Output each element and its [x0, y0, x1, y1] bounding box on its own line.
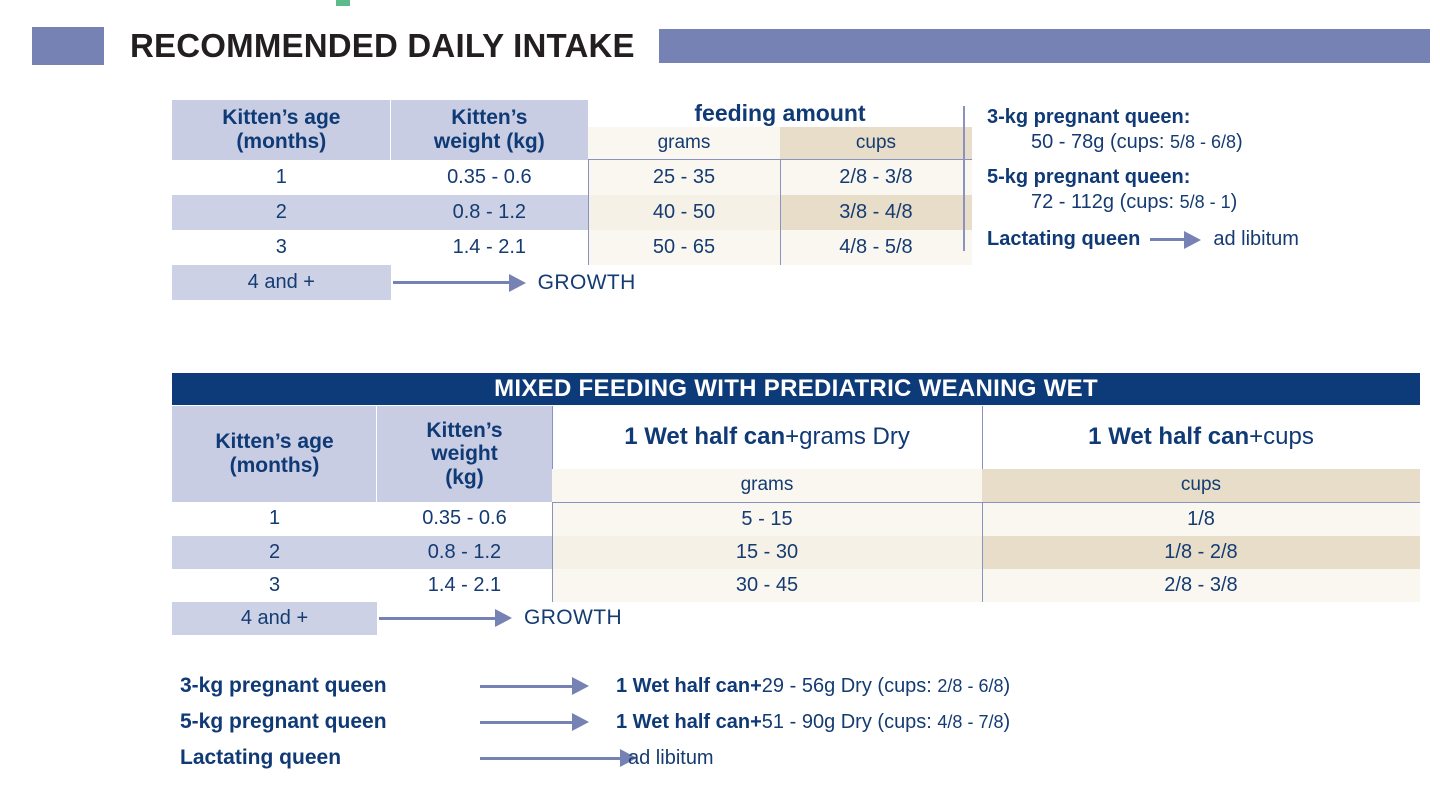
table2-header-cups: cups	[982, 469, 1420, 502]
table1-cell-age: 1	[172, 160, 391, 196]
table2-header-age: Kitten’s age (months)	[172, 406, 377, 502]
table-row: 3 1.4 - 2.1 50 - 65 4/8 - 5/8	[172, 230, 972, 265]
table1-cell-weight: 0.8 - 1.2	[391, 195, 588, 230]
table-row: 2 0.8 - 1.2 40 - 50 3/8 - 4/8	[172, 195, 972, 230]
arrow-head-icon	[572, 713, 589, 731]
table-row: 3 1.4 - 2.1 30 - 45 2/8 - 3/8	[172, 569, 1420, 602]
note-value: 1 Wet half can+51 - 90g Dry (cups: 4/8 -…	[616, 711, 1010, 734]
table2-cell-grams: 5 - 15	[552, 502, 982, 536]
queen3-value-end: )	[1236, 131, 1243, 153]
arrow-right-icon	[379, 617, 495, 620]
arrow-right-icon	[480, 721, 572, 724]
table2-growth-cell: GROWTH	[377, 602, 1420, 635]
table2-cell-grams: 30 - 45	[552, 569, 982, 602]
table2-header-weight: Kitten’s weight (kg)	[377, 406, 552, 502]
recommended-daily-intake-table: Kitten’s age (months) Kitten’s weight (k…	[172, 100, 972, 300]
growth-arrow-group: GROWTH	[377, 606, 1420, 630]
table2-growth-label: GROWTH	[524, 606, 622, 630]
arrow-head-icon	[495, 609, 512, 627]
table2-header-weight-line3: (kg)	[377, 466, 552, 490]
arrow-right-icon	[393, 281, 509, 284]
note-label: 3-kg pregnant queen	[180, 674, 480, 698]
table1-cell-grams: 40 - 50	[588, 195, 780, 230]
table1-header-age: Kitten’s age (months)	[172, 100, 391, 160]
arrow-head-icon	[572, 677, 589, 695]
table2-head: Kitten’s age (months) Kitten’s weight (k…	[172, 406, 1420, 502]
table2-cell-cups: 1/8	[982, 502, 1420, 536]
arrow-head-icon	[1184, 231, 1201, 249]
note-arrow-group	[480, 749, 608, 767]
table1-growth-row: 4 and + GROWTH	[172, 265, 972, 300]
table2-cell-cups: 2/8 - 3/8	[982, 569, 1420, 602]
table2-body: 1 0.35 - 0.6 5 - 15 1/8 2 0.8 - 1.2 15 -…	[172, 502, 1420, 635]
table2-cell-grams: 15 - 30	[552, 536, 982, 569]
table1-header-weight: Kitten’s weight (kg)	[391, 100, 588, 160]
table2-header-weight-line2: weight	[377, 442, 552, 466]
table2-cell-age: 2	[172, 536, 377, 569]
lactating-queen-row: Lactating queen ad libitum	[987, 228, 1433, 251]
queen3-title: 3-kg pregnant queen:	[987, 106, 1433, 129]
arrow-right-icon	[480, 757, 620, 760]
queen5-title: 5-kg pregnant queen:	[987, 166, 1433, 189]
queen3-value-fraction: 5/8 - 6/8	[1170, 132, 1236, 152]
table1-header-weight-line2: weight (kg)	[391, 130, 588, 154]
table1-cell-weight: 1.4 - 2.1	[391, 230, 588, 265]
note-row: 5-kg pregnant queen 1 Wet half can+51 - …	[180, 704, 1280, 740]
note-row: Lactating queen ad libitum	[180, 740, 1280, 776]
table1-header-row-1: Kitten’s age (months) Kitten’s weight (k…	[172, 100, 972, 127]
note-row: 3-kg pregnant queen 1 Wet half can+29 - …	[180, 668, 1280, 704]
growth-arrow-group: GROWTH	[391, 271, 972, 295]
note-arrow-group	[480, 677, 608, 695]
green-marker-decoration	[336, 0, 350, 6]
table-row: 1 0.35 - 0.6 5 - 15 1/8	[172, 502, 1420, 536]
table1-cell-cups: 3/8 - 4/8	[780, 195, 972, 230]
table2-header-age-line2: (months)	[172, 454, 377, 478]
table2-header-wet-cups-bold: 1 Wet half can	[1088, 423, 1249, 450]
title-accent-block-left	[32, 27, 104, 65]
table1-header-grams: grams	[588, 127, 780, 160]
table1-cell-cups: 4/8 - 5/8	[780, 230, 972, 265]
lactating-queen-label: Lactating queen	[987, 228, 1140, 251]
table1-growth-cell: GROWTH	[391, 265, 972, 300]
note-value: 1 Wet half can+29 - 56g Dry (cups: 2/8 -…	[616, 675, 1010, 698]
note-label: 5-kg pregnant queen	[180, 710, 480, 734]
table2-header-wet-dry-bold: 1 Wet half can	[624, 423, 785, 450]
table1-growth-label: GROWTH	[538, 271, 636, 295]
table2-cell-age: 3	[172, 569, 377, 602]
table1-cell-weight: 0.35 - 0.6	[391, 160, 588, 196]
queen3-value-main: 50 - 78g (cups:	[1031, 131, 1170, 153]
table2-header-wet-cups: 1 Wet half can+cups	[982, 406, 1420, 469]
table1-header-age-line2: (months)	[172, 130, 391, 154]
note-value-main: ad libitum	[628, 747, 714, 769]
table2-growth-row: 4 and + GROWTH	[172, 602, 1420, 635]
note-value-main: 51 - 90g Dry (cups:	[762, 711, 938, 733]
bottom-notes: 3-kg pregnant queen 1 Wet half can+29 - …	[180, 668, 1280, 776]
table1-header-age-line1: Kitten’s age	[172, 106, 391, 130]
table2-header-wet-dry: 1 Wet half can+grams Dry	[552, 406, 982, 469]
table1-cell-age: 3	[172, 230, 391, 265]
note-value-bold: 1 Wet half can+	[616, 675, 762, 697]
queen5-value-fraction: 5/8 - 1	[1180, 192, 1231, 212]
pregnant-queen-panel: 3-kg pregnant queen: 50 - 78g (cups: 5/8…	[963, 106, 1433, 251]
table2-header-row-1: Kitten’s age (months) Kitten’s weight (k…	[172, 406, 1420, 469]
table2-cell-weight: 1.4 - 2.1	[377, 569, 552, 602]
arrow-right-icon	[1150, 238, 1184, 241]
table1-growth-age: 4 and +	[172, 265, 391, 300]
page-title-bar: RECOMMENDED DAILY INTAKE	[0, 26, 1440, 66]
note-value-fraction: 2/8 - 6/8	[937, 676, 1003, 696]
note-label: Lactating queen	[180, 746, 480, 770]
note-value-end: )	[1003, 711, 1010, 733]
arrow-right-icon	[480, 685, 572, 688]
table2-header-wet-cups-rest: +cups	[1249, 423, 1314, 450]
queen3-value: 50 - 78g (cups: 5/8 - 6/8)	[1031, 131, 1433, 154]
queen5-value-main: 72 - 112g (cups:	[1031, 191, 1180, 213]
table2-header-wet-dry-rest: +grams Dry	[785, 423, 910, 450]
note-arrow-group	[480, 713, 608, 731]
table2-cell-age: 1	[172, 502, 377, 536]
lactating-queen-value: ad libitum	[1213, 228, 1299, 251]
table2-cell-weight: 0.35 - 0.6	[377, 502, 552, 536]
table2-cell-weight: 0.8 - 1.2	[377, 536, 552, 569]
table1-cell-grams: 50 - 65	[588, 230, 780, 265]
arrow-head-icon	[509, 274, 526, 292]
note-value-main: 29 - 56g Dry (cups:	[762, 675, 938, 697]
note-value-bold: 1 Wet half can+	[616, 711, 762, 733]
table2-growth-age: 4 and +	[172, 602, 377, 635]
note-value-fraction: 4/8 - 7/8	[937, 712, 1003, 732]
table2-header-age-line1: Kitten’s age	[172, 430, 377, 454]
note-value: ad libitum	[628, 747, 714, 770]
page-title: RECOMMENDED DAILY INTAKE	[130, 27, 635, 65]
table-row: 2 0.8 - 1.2 15 - 30 1/8 - 2/8	[172, 536, 1420, 569]
table1-head: Kitten’s age (months) Kitten’s weight (k…	[172, 100, 972, 160]
table1-header-feeding-amount: feeding amount	[588, 100, 972, 127]
queen5-value-end: )	[1231, 191, 1238, 213]
table1-header-weight-line1: Kitten’s	[391, 106, 588, 130]
title-accent-block-right	[659, 29, 1430, 63]
table2-cell-cups: 1/8 - 2/8	[982, 536, 1420, 569]
table-row: 1 0.35 - 0.6 25 - 35 2/8 - 3/8	[172, 160, 972, 196]
table1-body: 1 0.35 - 0.6 25 - 35 2/8 - 3/8 2 0.8 - 1…	[172, 160, 972, 301]
table1-cell-cups: 2/8 - 3/8	[780, 160, 972, 196]
table2-header-weight-line1: Kitten’s	[377, 419, 552, 443]
table1-cell-grams: 25 - 35	[588, 160, 780, 196]
table1-header-cups: cups	[780, 127, 972, 160]
mixed-feeding-table: Kitten’s age (months) Kitten’s weight (k…	[172, 406, 1420, 635]
table1-cell-age: 2	[172, 195, 391, 230]
queen5-value: 72 - 112g (cups: 5/8 - 1)	[1031, 191, 1433, 214]
mixed-feeding-banner: MIXED FEEDING WITH PREDIATRIC WEANING WE…	[172, 373, 1420, 405]
table2-header-grams: grams	[552, 469, 982, 502]
note-value-end: )	[1003, 675, 1010, 697]
